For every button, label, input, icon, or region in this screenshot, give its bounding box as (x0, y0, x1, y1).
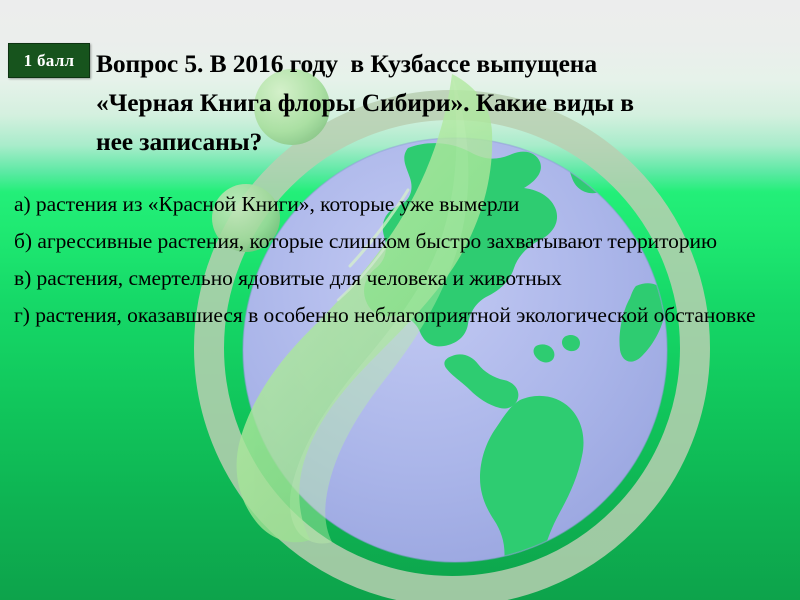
question-line-2: «Черная Книга флоры Сибири». Какие виды … (96, 83, 796, 122)
answer-option-a[interactable]: а) растения из «Красной Книги», которые … (14, 186, 794, 223)
question-line-3: нее записаны? (96, 122, 796, 161)
quiz-slide: 1 балл Вопрос 5. В 2016 году в Кузбассе … (0, 0, 800, 600)
score-badge-label: 1 балл (24, 52, 75, 69)
score-badge: 1 балл (8, 43, 90, 78)
answer-option-g[interactable]: г) растения, оказавшиеся в особенно небл… (14, 297, 794, 334)
answer-option-b[interactable]: б) агрессивные растения, которые слишком… (14, 223, 794, 260)
answer-options-list: а) растения из «Красной Книги», которые … (14, 186, 794, 334)
question-line-1: Вопрос 5. В 2016 году в Кузбассе выпущен… (96, 44, 796, 83)
question-title: Вопрос 5. В 2016 году в Кузбассе выпущен… (96, 44, 796, 161)
answer-option-v[interactable]: в) растения, смертельно ядовитые для чел… (14, 260, 794, 297)
